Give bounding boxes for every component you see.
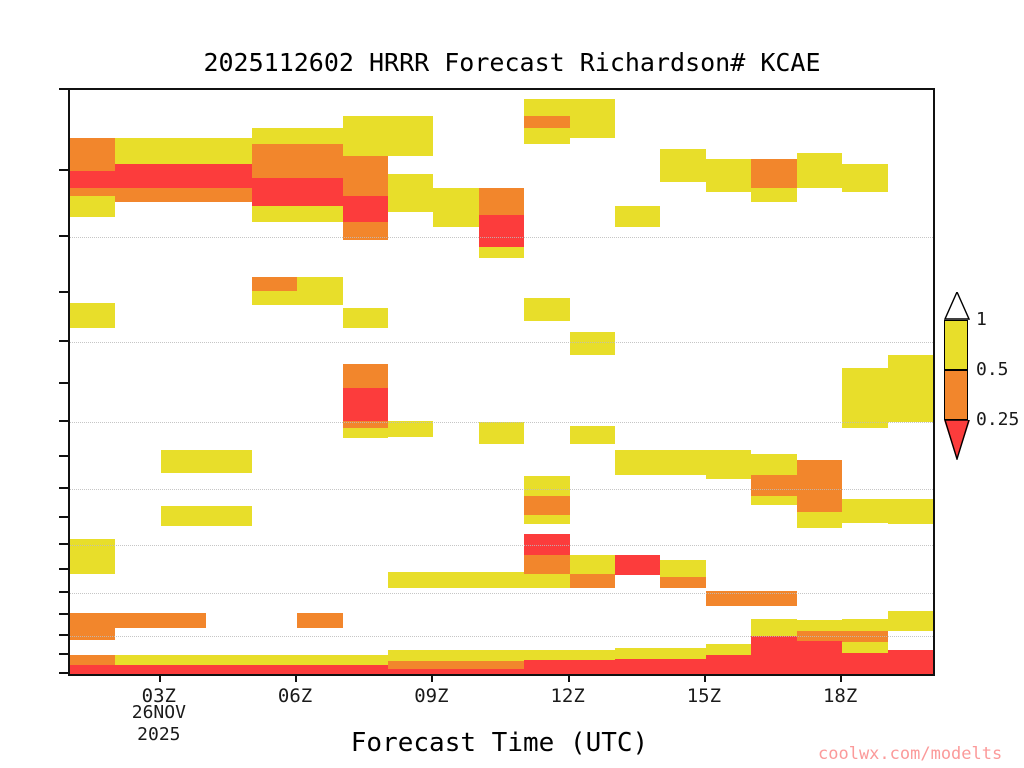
- y-tick-mark: [59, 235, 68, 237]
- x-tick-mark: [431, 674, 433, 682]
- x-tick-mark: [159, 674, 161, 682]
- y-tick-mark: [59, 568, 68, 570]
- page-title: 2025112602 HRRR Forecast Richardson# KCA…: [0, 48, 1024, 77]
- y-tick-mark: [59, 672, 68, 674]
- x-tick-mark: [840, 674, 842, 682]
- colorbar-segment-orange: [944, 370, 968, 420]
- y-tick-mark: [59, 516, 68, 518]
- colorbar-bottom-arrow-outline: [944, 420, 970, 460]
- y-tick-mark: [59, 88, 68, 90]
- colorbar-segment-yellow: [944, 320, 968, 370]
- colorbar-tick-label: 0.5: [976, 361, 1009, 379]
- y-tick-mark: [59, 291, 68, 293]
- colorbar-tick-label: 0.25: [976, 411, 1019, 429]
- x-axis-title: Forecast Time (UTC): [68, 728, 931, 758]
- hrrr-richardson-time-height-figure: 2025112602 HRRR Forecast Richardson# KCA…: [0, 0, 1024, 768]
- colorbar: 10.50.25: [944, 292, 970, 460]
- x-tick-mark: [704, 674, 706, 682]
- y-tick-mark: [59, 455, 68, 457]
- watermark: coolwx.com/modelts: [818, 744, 1002, 764]
- x-tick-label: 12Z: [528, 686, 608, 707]
- x-tick-mark: [295, 674, 297, 682]
- y-tick-mark: [59, 591, 68, 593]
- y-tick-mark: [59, 382, 68, 384]
- x-tick-label: 15Z: [664, 686, 744, 707]
- terrain-layer: [70, 90, 933, 674]
- y-tick-mark: [59, 420, 68, 422]
- x-tick-mark: [568, 674, 570, 682]
- y-tick-mark: [59, 613, 68, 615]
- x-tick-label: 06Z: [255, 686, 335, 707]
- gridline: [70, 674, 933, 676]
- y-tick-mark: [59, 653, 68, 655]
- y-tick-mark: [59, 340, 68, 342]
- y-tick-mark: [59, 634, 68, 636]
- colorbar-tick-label: 1: [976, 311, 987, 329]
- x-tick-label: 09Z: [391, 686, 471, 707]
- x-tick-label: 18Z: [800, 686, 880, 707]
- y-tick-mark: [59, 169, 68, 171]
- y-tick-mark: [59, 543, 68, 545]
- plot-area: [68, 88, 935, 676]
- y-tick-mark: [59, 487, 68, 489]
- date-label-line: 26NOV: [114, 702, 204, 724]
- colorbar-top-arrow-outline: [944, 292, 970, 320]
